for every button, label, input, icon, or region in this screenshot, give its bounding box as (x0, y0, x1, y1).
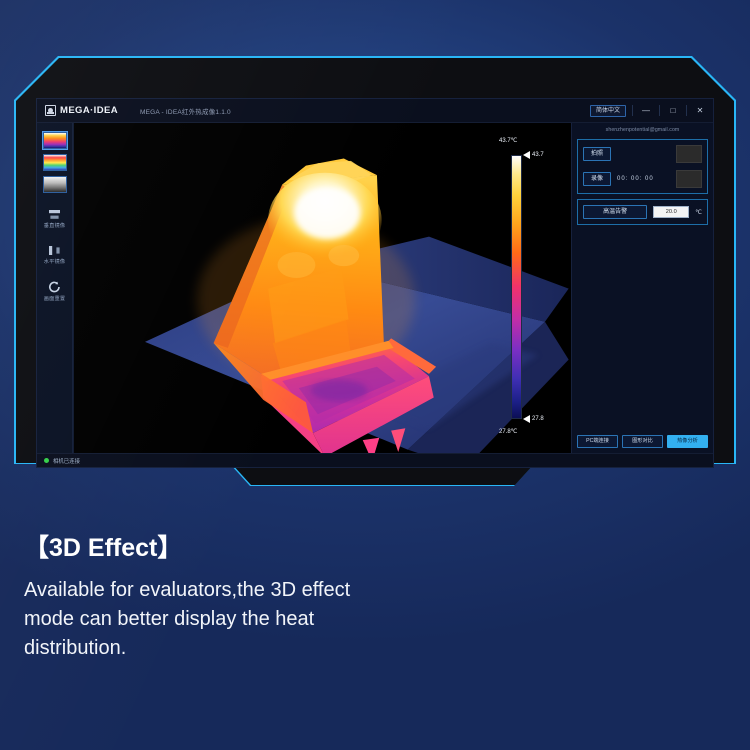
tool-vertical-mirror[interactable]: 垂直镜像 (38, 209, 72, 229)
divider (632, 105, 633, 116)
scale-max-label: 43.7℃ (499, 137, 517, 144)
high-temp-alarm-button[interactable]: 高温告警 (583, 205, 647, 219)
thermal-3d-surface[interactable] (74, 123, 571, 453)
brand-name: MEGA·IDEA (60, 105, 118, 116)
reset-view-icon (48, 281, 61, 293)
caption-title: 【3D Effect】 (24, 528, 544, 564)
tool-horizontal-mirror[interactable]: 水平镜像 (38, 245, 72, 265)
pc-connect-button[interactable]: PC端连接 (577, 435, 618, 448)
record-timer: 00: 00: 00 (617, 176, 654, 182)
caption-block: 【3D Effect】 Available for evaluators,the… (24, 528, 544, 663)
marketing-slide: MEGA·IDEA MEGA - IDEA红外热成像1.1.0 简体中文 — □… (0, 0, 750, 750)
connection-status-text: 相机已连接 (53, 457, 80, 465)
panel-spacer (577, 230, 708, 430)
caption-body: Available for evaluators,the 3D effect m… (24, 576, 354, 663)
palette-swatch-rainbow[interactable] (43, 154, 67, 171)
marker-arrow-icon (523, 415, 530, 423)
status-bar: 相机已连接 (37, 453, 713, 467)
scale-min-label: 27.8℃ (499, 428, 517, 435)
tool-label: 水平镜像 (44, 258, 66, 265)
capture-row: 拍照 (583, 145, 702, 163)
marker-high-value: 43.7 (532, 152, 544, 158)
left-toolbar: 垂直镜像 水平镜像 画面重置 (37, 123, 73, 453)
marker-arrow-icon (523, 151, 530, 159)
record-video-button[interactable]: 录像 (583, 172, 611, 186)
horizontal-mirror-icon (48, 245, 61, 256)
tool-reset-view[interactable]: 画面重置 (38, 281, 72, 302)
mega-idea-logo-icon (45, 105, 56, 116)
temperature-scale: 43.7℃ 43.7 27.8 27.8℃ (499, 137, 553, 439)
divider (659, 105, 660, 116)
capture-group: 拍照 录像 00: 00: 00 (577, 139, 708, 194)
account-email: shenzhenpotential@gmail.com (577, 127, 708, 133)
right-control-panel: shenzhenpotential@gmail.com 拍照 录像 00: 00… (571, 123, 713, 453)
tool-label: 画面重置 (44, 295, 66, 302)
vertical-mirror-icon (48, 209, 61, 220)
scale-marker-low: 27.8 (523, 415, 544, 423)
thermal-analysis-button[interactable]: 热像分析 (667, 435, 708, 448)
action-button-row: PC端连接 图形对比 热像分析 (577, 435, 708, 448)
thermal-viewport[interactable]: 43.7℃ 43.7 27.8 27.8℃ (73, 123, 571, 453)
divider (686, 105, 687, 116)
alarm-row: 高温告警 ℃ (583, 205, 702, 219)
app-version-label: MEGA - IDEA红外热成像1.1.0 (140, 106, 231, 116)
app-body: 垂直镜像 水平镜像 画面重置 (37, 123, 713, 453)
close-button[interactable]: ✕ (693, 107, 707, 115)
minimize-button[interactable]: — (639, 107, 653, 115)
connection-indicator-icon (44, 458, 49, 463)
thermal-app-window: MEGA·IDEA MEGA - IDEA红外热成像1.1.0 简体中文 — □… (36, 98, 714, 468)
palette-swatch-iron[interactable] (43, 132, 67, 149)
tool-label: 垂直镜像 (44, 222, 66, 229)
alarm-threshold-input[interactable] (653, 206, 689, 218)
photo-thumbnail[interactable] (676, 145, 702, 163)
maximize-button[interactable]: □ (666, 107, 680, 115)
graph-compare-button[interactable]: 图形对比 (622, 435, 663, 448)
capture-photo-button[interactable]: 拍照 (583, 147, 611, 161)
video-thumbnail[interactable] (676, 170, 702, 188)
scale-marker-high: 43.7 (523, 151, 544, 159)
alarm-group: 高温告警 ℃ (577, 199, 708, 225)
title-bar: MEGA·IDEA MEGA - IDEA红外热成像1.1.0 简体中文 — □… (37, 99, 713, 123)
language-button[interactable]: 简体中文 (590, 105, 626, 117)
scale-gradient-bar (511, 155, 522, 419)
palette-swatch-grayscale[interactable] (43, 176, 67, 193)
record-row: 录像 00: 00: 00 (583, 170, 702, 188)
alarm-unit-label: ℃ (695, 209, 702, 216)
brand-logo: MEGA·IDEA (45, 105, 118, 116)
marker-low-value: 27.8 (532, 416, 544, 422)
window-controls: 简体中文 — □ ✕ (590, 105, 707, 117)
